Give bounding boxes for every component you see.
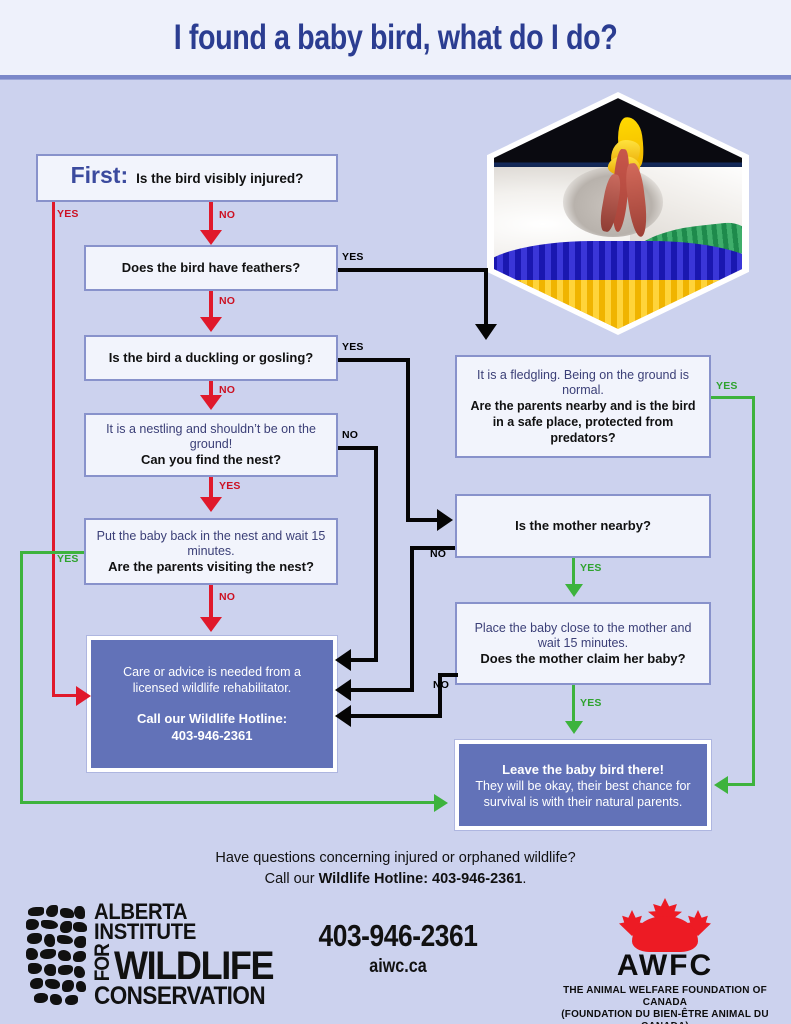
awfc-subtitle-en: THE ANIMAL WELFARE FOUNDATION OF CANADA [551,984,779,1008]
edge-duck-yes-arrowhead [437,509,453,531]
label-yes-putback: YES [57,553,79,565]
node-duckling-gosling[interactable]: Is the bird a duckling or gosling? [84,335,338,381]
edge-putback-yes-v [20,551,23,804]
awfc-logo: AWFC THE ANIMAL WELFARE FOUNDATION OF CA… [545,898,785,1010]
node-leave-bird-there[interactable]: Leave the baby bird there! They will be … [455,740,711,830]
edge-nestling-yes-line [209,477,213,499]
photo-hex-frame [487,92,749,335]
label-no-first: NO [219,209,235,221]
fledgling-question: Are the parents nearby and is the bird i… [465,398,701,446]
edge-putback-no-line [209,585,213,619]
footer-hotline[interactable]: Wildlife Hotline: 403-946-2361 [319,871,523,887]
edge-putback-yes-arrowhead [434,794,448,812]
node-nestling[interactable]: It is a nestling and shouldn’t be on the… [84,413,338,477]
node-fledgling[interactable]: It is a fledgling. Being on the ground i… [455,355,711,458]
edge-first-yes-vertical [52,202,55,696]
aiwc-phone[interactable]: 403-946-2361 [296,918,500,954]
edge-first-no-arrowhead [200,230,222,245]
infographic-page: I found a baby bird, what do I do? [0,0,791,1024]
duckling-question: Is the bird a duckling or gosling? [109,350,313,366]
photo-image [494,98,743,329]
edge-duck-yes-v [406,358,410,522]
label-yes-mother: YES [580,562,602,574]
care-cta: Call our Wildlife Hotline: [137,710,287,727]
node-place-near-mother[interactable]: Place the baby close to the mother and w… [455,602,711,685]
edge-first-no-line [209,202,213,232]
edge-feathers-yes-h [338,268,488,272]
footer-contact-text: Have questions concerning injured or orp… [0,848,791,890]
fledgling-lead: It is a fledgling. Being on the ground i… [465,368,701,398]
edge-duck-no-line [209,381,213,396]
baby-bird-photo [487,92,749,335]
page-header: I found a baby bird, what do I do? [0,0,791,76]
footer-call-prefix: Call our [265,871,319,887]
edge-duck-yes-h1 [338,358,410,362]
edge-feathers-yes-v [484,268,488,326]
aiwc-wildlife: WILDLIFE [114,949,273,983]
edge-place-yes-line [572,685,575,723]
edge-nestling-no-arrowhead [335,649,351,671]
nestling-question: Can you find the nest? [141,452,281,468]
edge-putback-yes-h2 [20,801,438,804]
aiwc-website[interactable]: aiwc.ca [296,956,500,978]
place-lead: Place the baby close to the mother and w… [465,621,701,651]
label-no-putback: NO [219,591,235,603]
edge-nestling-yes-arrowhead [200,497,222,512]
label-yes-place: YES [580,697,602,709]
edge-nestling-no-h1 [338,446,378,450]
footer-line-2: Call our Wildlife Hotline: 403-946-2361. [0,869,791,890]
label-no-nestling: NO [342,429,358,441]
nestling-lead: It is a nestling and shouldn’t be on the… [94,422,328,452]
aiwc-logo: ALBERTA INSTITUTE FOR WILDLIFE CONSERVAT… [26,903,258,1007]
aiwc-line-3: CONSERVATION [94,985,271,1008]
edge-nestling-no-v [374,446,378,662]
edge-first-yes-arrowhead [76,686,91,706]
edge-mother-no-h2 [349,688,414,692]
node-is-mother-nearby[interactable]: Is the mother nearby? [455,494,711,558]
leave-body: They will be okay, their best chance for… [469,778,697,810]
edge-feathers-no-line [209,291,213,318]
node-put-back-in-nest[interactable]: Put the baby back in the nest and wait 1… [84,518,338,585]
edge-mother-no-arrowhead [335,679,351,701]
edge-fledgling-yes-h1 [711,396,755,399]
edge-putback-no-arrowhead [200,617,222,632]
awfc-acronym: AWFC [545,951,785,981]
label-no-place: NO [433,679,449,691]
label-yes-duckling: YES [342,341,364,353]
node-has-feathers[interactable]: Does the bird have feathers? [84,245,338,291]
first-question: Is the bird visibly injured? [136,171,303,187]
edge-mother-yes-line [572,558,575,586]
header-divider [0,75,791,79]
edge-fledgling-yes-h2 [728,783,755,786]
page-title: I found a baby bird, what do I do? [174,18,618,58]
label-yes-fledgling: YES [716,380,738,392]
edge-feathers-no-arrowhead [200,317,222,332]
label-no-mother: NO [430,548,446,560]
edge-duck-yes-h2 [406,518,440,522]
place-question: Does the mother claim her baby? [480,651,685,667]
aiwc-line-1: ALBERTA INSTITUTE [94,902,275,942]
footer-period: . [522,871,526,887]
leave-title: Leave the baby bird there! [502,761,664,778]
edge-mother-no-v [410,546,414,692]
edge-fledgling-yes-v [752,396,755,786]
aiwc-contact-block: 403-946-2361 aiwc.ca [278,918,518,978]
label-no-duckling: NO [219,384,235,396]
maple-paw-icon [605,898,725,950]
node-first-injured[interactable]: First: Is the bird visibly injured? [36,154,338,202]
edge-place-no-h2 [349,714,442,718]
putback-question: Are the parents visiting the nest? [108,559,314,575]
aiwc-line-2: FOR WILDLIFE [94,942,291,983]
aiwc-wordmark: ALBERTA INSTITUTE FOR WILDLIFE CONSERVAT… [94,902,291,1009]
edge-feathers-yes-arrowhead [475,324,497,340]
animal-silhouettes-icon [26,905,88,1005]
putback-lead: Put the baby back in the nest and wait 1… [94,529,328,559]
first-label: First: [71,162,129,189]
mother-question: Is the mother nearby? [515,518,651,534]
care-lead: Care or advice is needed from a licensed… [101,664,323,696]
label-yes-nestling: YES [219,480,241,492]
label-no-feathers: NO [219,295,235,307]
edge-place-yes-arrowhead [565,721,583,734]
label-yes-feathers: YES [342,251,364,263]
footer-line-1: Have questions concerning injured or orp… [0,848,791,869]
label-yes-first: YES [57,208,79,220]
awfc-subtitle-fr: (FOUNDATION DU BIEN-ÊTRE ANIMAL DU CANAD… [551,1008,779,1024]
edge-place-no-arrowhead [335,705,351,727]
care-phone[interactable]: 403-946-2361 [172,727,253,744]
edge-mother-yes-arrowhead [565,584,583,597]
node-call-rehabilitator[interactable]: Care or advice is needed from a licensed… [87,636,337,772]
edge-fledgling-yes-arrowhead [714,776,728,794]
feathers-question: Does the bird have feathers? [122,260,300,276]
edge-duck-no-arrowhead [200,395,222,410]
edge-nestling-no-h2 [349,658,378,662]
aiwc-for: FOR [94,944,112,981]
